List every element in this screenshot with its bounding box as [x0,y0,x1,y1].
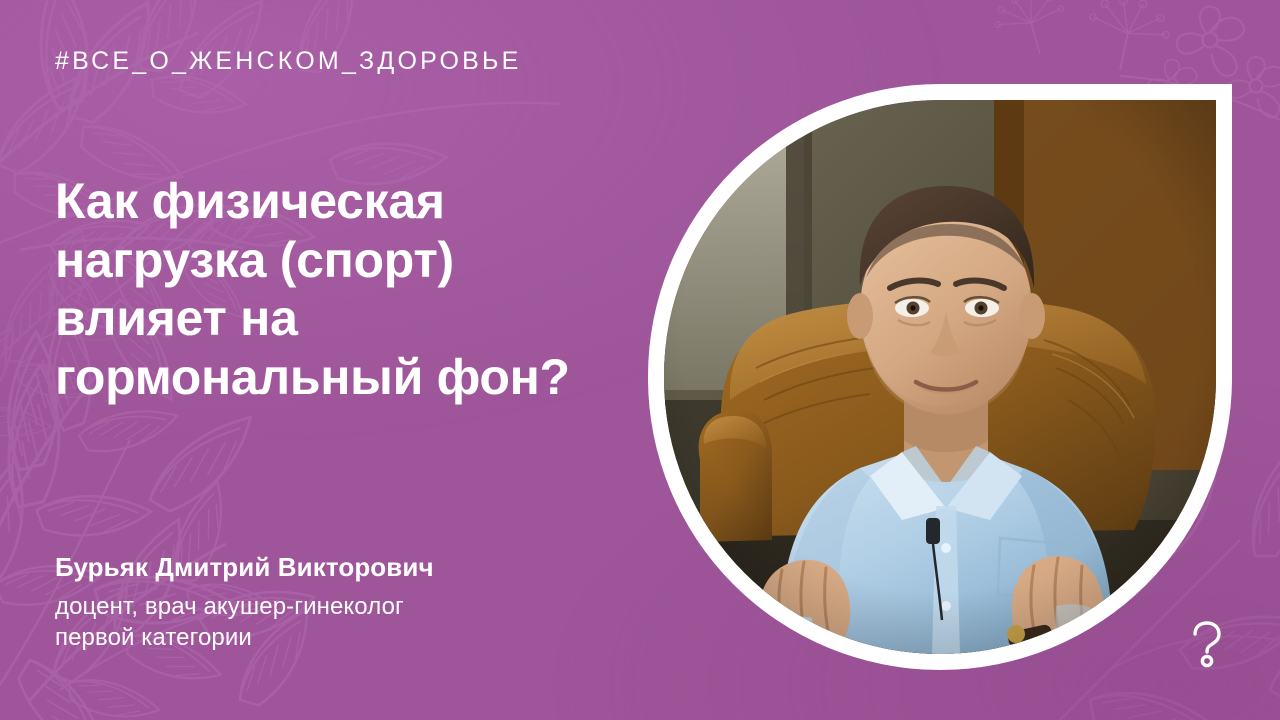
speaker-photo [664,100,1216,654]
speaker-title-line-1: доцент, врач акушер-гинеколог [55,592,615,623]
question-mark-icon [1188,620,1226,668]
speaker-name: Бурьяк Дмитрий Викторович [55,553,615,583]
text-column: #ВСЕ_О_ЖЕНСКОМ_ЗДОРОВЬЕ Как физическая н… [55,0,655,720]
speaker-credit: Бурьяк Дмитрий Викторович доцент, врач а… [55,553,615,653]
speaker-title-line-2: первой категории [55,623,615,654]
speaker-portrait-illustration [664,100,1216,654]
speaker-photo-frame [648,84,1232,670]
hashtag-label: #ВСЕ_О_ЖЕНСКОМ_ЗДОРОВЬЕ [55,49,521,74]
speaker-title: доцент, врач акушер-гинеколог первой кат… [55,592,615,653]
page-title: Как физическая нагрузка (спорт) влияет н… [55,172,595,406]
video-title-card: #ВСЕ_О_ЖЕНСКОМ_ЗДОРОВЬЕ Как физическая н… [0,0,1280,720]
